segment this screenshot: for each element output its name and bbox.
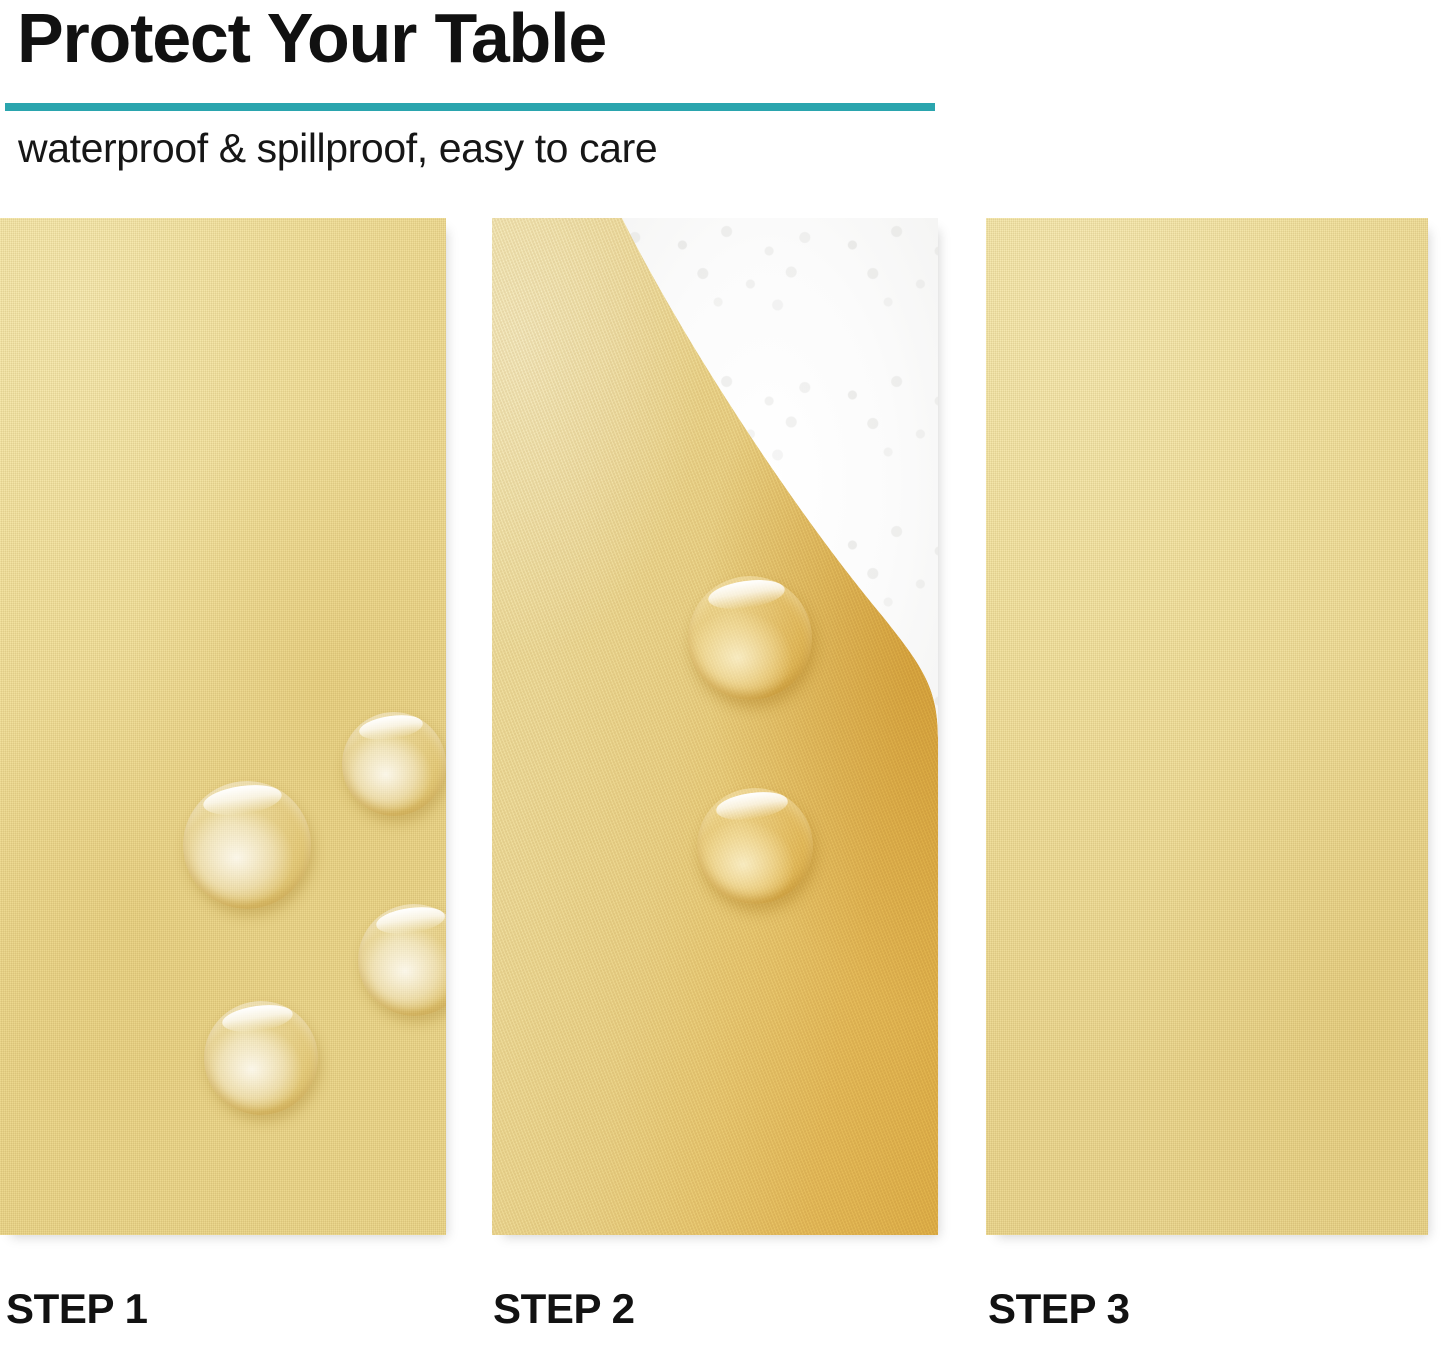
step-1-label: STEP 1 <box>6 1284 148 1334</box>
water-droplet <box>183 781 311 909</box>
header: Protect Your Table waterproof & spillpro… <box>0 0 1445 200</box>
step-1-image-panel <box>0 218 446 1235</box>
step-3-image-panel <box>986 218 1428 1235</box>
page-title: Protect Your Table <box>17 0 606 80</box>
water-droplet <box>204 1001 318 1115</box>
step-3-label: STEP 3 <box>988 1284 1130 1334</box>
step-2-image-panel <box>492 218 938 1235</box>
page-subtitle: waterproof & spillproof, easy to care <box>18 122 657 174</box>
step-2-label: STEP 2 <box>493 1284 635 1334</box>
fabric-weave-texture <box>986 218 1428 1235</box>
water-droplet <box>342 712 446 816</box>
title-divider-rule <box>5 103 935 111</box>
water-droplet <box>688 576 812 700</box>
water-droplet <box>697 788 813 904</box>
